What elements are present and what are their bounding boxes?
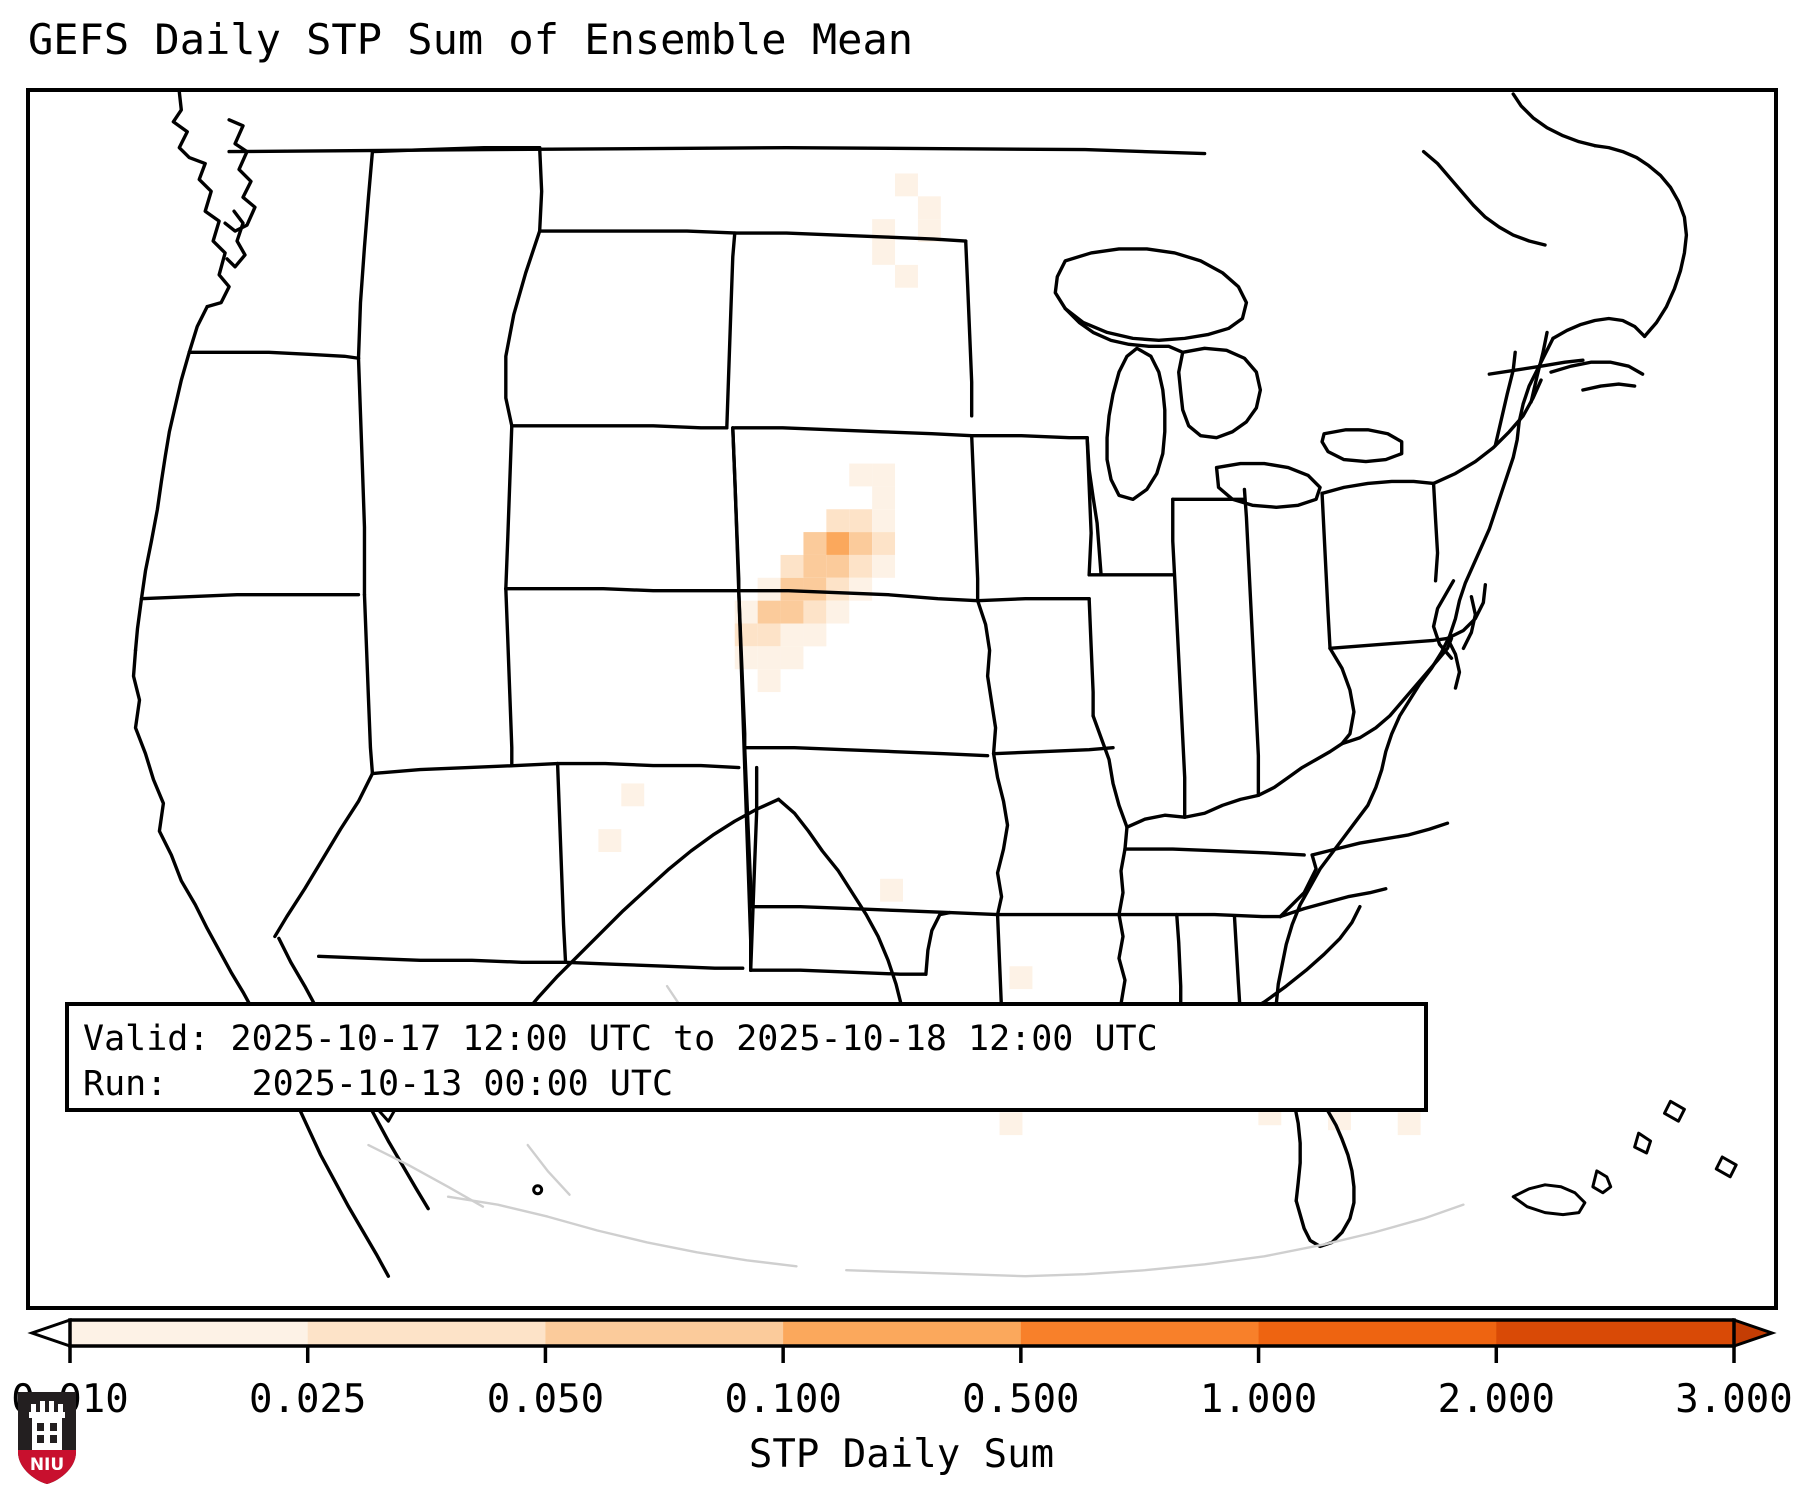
- colorbar-tick-label: 1.000: [1200, 1378, 1317, 1422]
- stp-grid-cell: [880, 879, 903, 902]
- stp-grid-cell: [872, 532, 895, 555]
- stp-grid-cell: [826, 578, 849, 601]
- colorbar-segment: [783, 1320, 1021, 1346]
- colorbar-axis-label: STP Daily Sum: [0, 1432, 1803, 1477]
- stp-grid-cell: [621, 783, 644, 806]
- stp-grid-cell: [849, 509, 872, 532]
- colorbar-tick-label: 0.025: [249, 1378, 366, 1422]
- colorbar-tick-label: 0.050: [487, 1378, 604, 1422]
- stp-grid-cell: [872, 464, 895, 487]
- stp-grid-cell: [872, 555, 895, 578]
- colorbar-segment: [1496, 1320, 1734, 1346]
- niu-logo-text: NIU: [30, 1455, 64, 1475]
- stp-grid-cell: [803, 623, 826, 646]
- model-run-text: Run: 2025-10-13 00:00 UTC: [83, 1062, 1424, 1107]
- stp-grid-cell: [781, 601, 804, 624]
- stp-grid-cell: [1010, 966, 1033, 989]
- stp-grid-cell: [758, 623, 781, 646]
- stp-grid-cell: [598, 829, 621, 852]
- colorbar: [26, 1318, 1778, 1368]
- stp-grid-cell: [849, 578, 872, 601]
- stp-grid-cell: [758, 646, 781, 669]
- stp-grid-cell: [781, 646, 804, 669]
- stp-grid-cell: [895, 265, 918, 288]
- stp-grid-cell: [918, 196, 941, 219]
- stp-grid-cell: [826, 555, 849, 578]
- valid-period-text: Valid: 2025-10-17 12:00 UTC to 2025-10-1…: [83, 1017, 1424, 1062]
- colorbar-segment: [70, 1320, 308, 1346]
- stp-grid-cell: [781, 623, 804, 646]
- colorbar-over-arrow: [1734, 1320, 1772, 1346]
- stp-grid-cell: [1000, 1112, 1023, 1135]
- stp-grid-cell: [826, 532, 849, 555]
- niu-logo: NIU: [16, 1390, 78, 1486]
- colorbar-under-arrow: [32, 1320, 70, 1346]
- colorbar-segment: [1259, 1320, 1497, 1346]
- stp-grid-cell: [872, 486, 895, 509]
- niu-shield-icon: NIU: [16, 1390, 78, 1486]
- stp-grid-cell: [803, 532, 826, 555]
- colorbar-canvas: [26, 1318, 1778, 1368]
- stp-grid-cell: [803, 578, 826, 601]
- colorbar-segments: [32, 1320, 1772, 1346]
- stp-grid-cell: [826, 601, 849, 624]
- stp-data-cells: [598, 173, 1420, 1135]
- stp-grid-cell: [735, 623, 758, 646]
- colorbar-tick-label: 0.500: [962, 1378, 1079, 1422]
- stp-grid-cell: [826, 509, 849, 532]
- stp-grid-cell: [849, 555, 872, 578]
- colorbar-tick-label: 0.100: [724, 1378, 841, 1422]
- stp-grid-cell: [758, 669, 781, 692]
- stp-grid-cell: [849, 532, 872, 555]
- stp-grid-cell: [803, 601, 826, 624]
- stp-grid-cell: [872, 509, 895, 532]
- stp-grid-cell: [895, 173, 918, 196]
- stp-grid-cell: [1398, 1112, 1421, 1135]
- stp-grid-cell: [849, 464, 872, 487]
- colorbar-segment: [1021, 1320, 1259, 1346]
- map-canvas: [30, 92, 1774, 1306]
- stp-grid-cell: [781, 555, 804, 578]
- stp-grid-cell: [735, 646, 758, 669]
- colorbar-ticks: [70, 1346, 1734, 1363]
- colorbar-segment: [308, 1320, 546, 1346]
- stp-grid-cell: [758, 601, 781, 624]
- stp-grid-cell: [803, 555, 826, 578]
- colorbar-tick-label: 2.000: [1438, 1378, 1555, 1422]
- page-title: GEFS Daily STP Sum of Ensemble Mean: [28, 17, 913, 63]
- stp-grid-cell: [872, 242, 895, 265]
- colorbar-tick-label: 3.000: [1675, 1378, 1792, 1422]
- colorbar-tick-labels: 0.0100.0250.0500.1000.5001.0002.0003.000: [26, 1378, 1778, 1424]
- colorbar-segment: [545, 1320, 783, 1346]
- forecast-info-box: Valid: 2025-10-17 12:00 UTC to 2025-10-1…: [65, 1002, 1428, 1112]
- map-panel: Valid: 2025-10-17 12:00 UTC to 2025-10-1…: [26, 88, 1778, 1310]
